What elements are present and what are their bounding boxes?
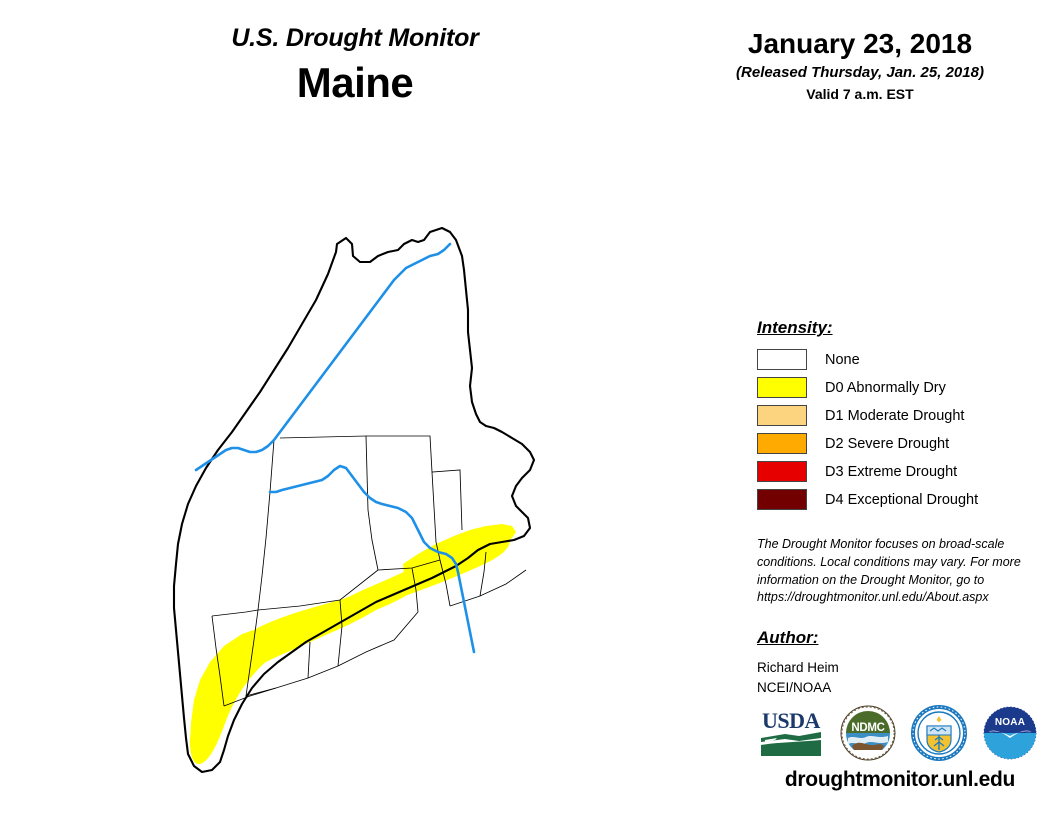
drought-monitor-page: U.S. Drought Monitor Maine January 23, 2… (0, 0, 1056, 816)
legend-label-d1: D1 Moderate Drought (825, 408, 964, 424)
legend-swatch-d4 (757, 489, 807, 510)
disclaimer-line-3: information on the Drought Monitor, go t… (757, 572, 1022, 590)
legend-title: Intensity: (757, 318, 1027, 338)
intensity-legend: Intensity: None D0 Abnormally Dry D1 Mod… (757, 318, 1027, 515)
legend-label-none: None (825, 352, 860, 368)
valid-time: Valid 7 a.m. EST (690, 86, 1030, 102)
legend-label-d3: D3 Extreme Drought (825, 464, 957, 480)
page-title: U.S. Drought Monitor (140, 24, 570, 53)
unl-seal-logo[interactable] (909, 704, 969, 762)
legend-swatch-none (757, 349, 807, 370)
legend-item-d1[interactable]: D1 Moderate Drought (757, 403, 1027, 428)
disclaimer-text: The Drought Monitor focuses on broad-sca… (757, 536, 1022, 607)
site-url[interactable]: droughtmonitor.unl.edu (755, 768, 1045, 792)
legend-item-d2[interactable]: D2 Severe Drought (757, 431, 1027, 456)
author-title: Author: (757, 628, 1017, 648)
legend-swatch-d1 (757, 405, 807, 426)
legend-label-d0: D0 Abnormally Dry (825, 380, 946, 396)
disclaimer-line-2: conditions. Local conditions may vary. F… (757, 554, 1022, 572)
svg-text:NDMC: NDMC (851, 722, 884, 734)
author-affiliation: NCEI/NOAA (757, 680, 1017, 695)
release-date: (Released Thursday, Jan. 25, 2018) (690, 64, 1030, 81)
map-date: January 23, 2018 (690, 28, 1030, 60)
disclaimer-line-1: The Drought Monitor focuses on broad-sca… (757, 536, 1022, 554)
legend-label-d4: D4 Exceptional Drought (825, 492, 978, 508)
usda-logo[interactable]: USDA (755, 704, 827, 762)
legend-item-d3[interactable]: D3 Extreme Drought (757, 459, 1027, 484)
author-block: Author: Richard Heim NCEI/NOAA (757, 628, 1017, 695)
legend-swatch-d0 (757, 377, 807, 398)
noaa-logo[interactable]: NOAA (980, 704, 1040, 762)
legend-item-none[interactable]: None (757, 347, 1027, 372)
d0-drought-area (190, 524, 516, 764)
legend-label-d2: D2 Severe Drought (825, 436, 949, 452)
ndmc-logo[interactable]: NDMC (838, 704, 898, 762)
logo-row: USDA NDMC (755, 702, 1040, 764)
legend-swatch-d2 (757, 433, 807, 454)
legend-item-d4[interactable]: D4 Exceptional Drought (757, 487, 1027, 512)
author-name: Richard Heim (757, 660, 1017, 675)
saint-john-river (196, 244, 474, 652)
svg-text:NOAA: NOAA (995, 717, 1025, 728)
title-block: U.S. Drought Monitor Maine (140, 24, 570, 107)
maine-drought-map (150, 140, 620, 800)
date-block: January 23, 2018 (Released Thursday, Jan… (690, 28, 1030, 102)
legend-swatch-d3 (757, 461, 807, 482)
state-title: Maine (140, 59, 570, 107)
legend-item-d0[interactable]: D0 Abnormally Dry (757, 375, 1027, 400)
disclaimer-link[interactable]: https://droughtmonitor.unl.edu/About.asp… (757, 589, 1022, 607)
svg-text:USDA: USDA (762, 708, 821, 733)
